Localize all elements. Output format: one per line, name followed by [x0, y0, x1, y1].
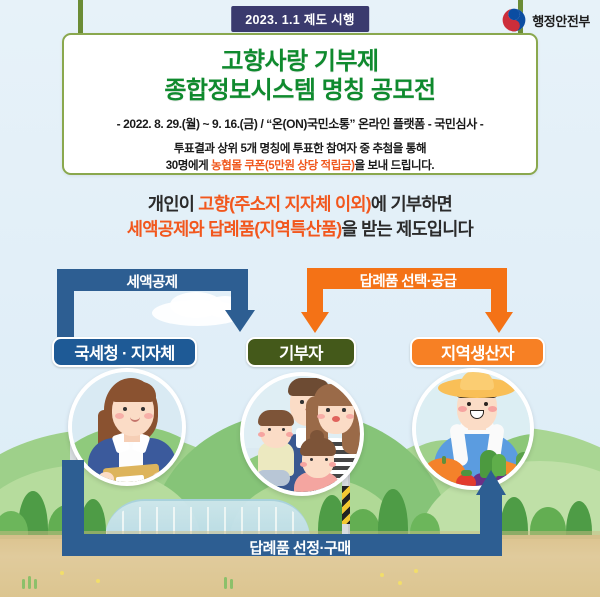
role-box-producer[interactable]: 지역생산자	[410, 337, 545, 367]
ministry-name-label: 행정안전부	[532, 11, 590, 30]
description-line-1: 개인이 고향(주소지 지자체 이외)에 기부하면	[0, 192, 600, 217]
role-box-producer-label: 지역생산자	[441, 340, 514, 364]
prize-coupon-highlight: 농협몰 쿠폰(5만원 상당 적립금)	[211, 160, 354, 172]
prize-note: 투표결과 상위 5개 명칭에 투표한 참여자 중 추첨을 통해 30명에게 농협…	[64, 141, 536, 176]
description-prefix: 개인이	[148, 194, 198, 214]
gift-arrow-right-stem	[491, 268, 507, 314]
grass-icon	[22, 579, 25, 589]
hometown-highlight: 고향(주소지 지자체 이외)	[198, 194, 371, 214]
farmer-avatar	[412, 368, 534, 490]
grass-icon	[28, 576, 31, 589]
description-suffix: 에 기부하면	[371, 194, 452, 214]
tax-credit-arrow-label: 세액공제	[102, 271, 202, 292]
ministry-logo: 행정안전부	[502, 8, 590, 32]
purchase-arrow-label: 답례품 선정·구매	[0, 537, 600, 558]
taegeuk-icon	[502, 8, 526, 32]
purchase-arrowhead	[476, 470, 506, 495]
title-line-2: 종합정보시스템 명칭 공모전	[64, 76, 536, 105]
petal-icon	[60, 571, 64, 575]
petal-icon	[380, 573, 384, 577]
role-box-tax-office-label: 국세청 · 지자체	[74, 340, 174, 364]
description-line-2: 세액공제와 답례품(지역특산품)을 받는 제도입니다	[0, 217, 600, 242]
program-description: 개인이 고향(주소지 지자체 이외)에 기부하면 세액공제와 답례품(지역특산품…	[0, 192, 600, 243]
prize-note-line-2: 30명에게 농협몰 쿠폰(5만원 상당 적립금)을 보내 드립니다.	[64, 158, 536, 175]
petal-icon	[414, 569, 418, 573]
contest-period-label: - 2022. 8. 29.(월) ~ 9. 16.(금) / “온(ON)국민…	[64, 115, 536, 132]
page-title: 고향사랑 기부제 종합정보시스템 명칭 공모전	[64, 47, 536, 106]
prize-note-line-1: 투표결과 상위 5개 명칭에 투표한 참여자 중 추첨을 통해	[64, 141, 536, 158]
prize-note-suffix: 을 보내 드립니다.	[355, 160, 435, 172]
benefit-highlight: 세액공제와 답례품(지역특산품)	[127, 219, 342, 239]
tax-credit-arrowhead	[225, 310, 255, 332]
public-servant-avatar	[68, 368, 186, 486]
description-line2-suffix: 을 받는 제도입니다	[342, 219, 474, 239]
gift-arrowhead-left	[301, 312, 329, 333]
prize-note-prefix: 30명에게	[166, 160, 211, 172]
donor-family-avatar	[240, 372, 364, 496]
title-line-1: 고향사랑 기부제	[64, 47, 536, 76]
grass-icon	[34, 579, 37, 589]
role-box-donor[interactable]: 기부자	[246, 337, 356, 367]
gift-arrow-label: 답례품 선택·공급	[338, 270, 478, 291]
petal-icon	[96, 579, 100, 583]
gift-arrowhead-right	[485, 312, 513, 333]
grass-icon	[230, 579, 233, 589]
grass-icon	[224, 577, 227, 589]
title-card: 고향사랑 기부제 종합정보시스템 명칭 공모전 - 2022. 8. 29.(월…	[62, 33, 538, 175]
role-box-tax-office[interactable]: 국세청 · 지자체	[52, 337, 197, 367]
implementation-date-badge: 2023. 1.1 제도 시행	[231, 6, 369, 32]
petal-icon	[398, 581, 402, 585]
tax-credit-arrow-right-stem	[231, 269, 248, 312]
role-box-donor-label: 기부자	[279, 340, 323, 364]
poster-canvas: 2023. 1.1 제도 시행 행정안전부 고향사랑 기부제 종합정보시스템 명…	[0, 0, 600, 597]
